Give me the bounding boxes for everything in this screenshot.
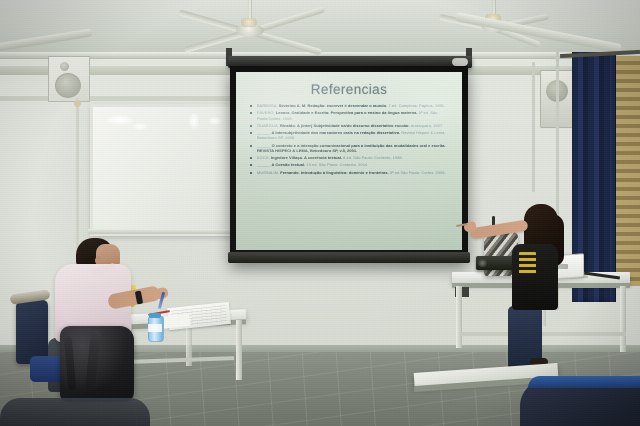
reference-author: KOCH, [257,155,270,160]
desk-leg [236,320,242,380]
reference-entry: ______ A intersubjetividade dos marcador… [248,130,450,140]
whiteboard-marker-tray [88,229,238,234]
reference-source: 7.ed. Campinas: Papirus, 1991. [387,103,445,108]
window-blinds[interactable] [612,56,640,286]
reference-entry: KOCH, Ingedore Villaça. A coerência text… [248,155,450,160]
projection-screen-surface: Referencias BARBOSA, Severino A. M. Reda… [236,72,462,250]
reference-title: Severino A. M. Redação: escrever é desve… [278,103,388,108]
speaker-tweeter [60,62,69,71]
classroom-photo: Referencias BARBOSA, Severino A. M. Reda… [0,0,640,426]
reference-author: ______ [257,162,270,167]
reference-title: Fernando. Introdução à linguística: domí… [279,170,389,175]
reference-entry: BARBOSA, Severino A. M. Redação: escreve… [248,103,450,108]
reference-title: A Coesão textual. [270,162,305,167]
office-chair-backrest[interactable] [16,300,48,364]
reference-source: Araraquara, 1997. [410,123,444,128]
projection-screen-weight-bar [228,252,470,263]
reference-source: 19.ed. São Paulo: Contexto, 2004. [305,162,368,167]
presenter-shirt-graphic [519,252,536,276]
table-leg [620,286,626,352]
reference-source: 8.ed. São Paulo: Contexto, 1998. [342,155,403,160]
slide-title: Referencias [244,82,454,97]
foreground-shadow-object [0,398,150,426]
reference-list: BARBOSA, Severino A. M. Redação: escreve… [244,103,454,175]
fan-motor-cap [241,18,257,27]
reference-entry: MUSSALIM, Fernando. Introdução à linguís… [248,170,450,175]
reference-title: Rinaldo. A (inter) Subjetividade na/do d… [279,123,410,128]
projected-slide: Referencias BARBOSA, Severino A. M. Reda… [236,72,462,250]
projector-lens [478,259,487,267]
reference-author: MUSSALIM, [257,170,279,175]
reference-entry: GUARGLIA, Rinaldo. A (inter) Subjetivida… [248,123,450,128]
door-frame-edge [76,98,79,248]
reference-author: BARBOSA, [257,103,278,108]
whiteboard-glare [209,117,221,125]
reference-entry: ______ O contexto e a interação comunica… [248,143,450,153]
whiteboard-glare [189,113,199,129]
whiteboard-glare [107,115,133,125]
whiteboard[interactable] [90,104,242,236]
reference-entry: FÁVERO, Leonor. Oralidade e Escrita: Per… [248,110,450,120]
screen-pull-knob[interactable] [452,58,468,66]
wall-hook [74,100,81,107]
reference-title: Leonor. Oralidade e Escrita: Perspectiva… [275,110,418,115]
wall-trim-secondary [0,96,232,101]
bottle-cap [149,313,161,318]
table-leg [456,286,462,348]
ac-conduit [532,62,535,192]
foreground-chair-rim [528,376,640,388]
reference-author: GUARGLIA, [257,123,279,128]
table-cross-rail [460,332,626,336]
reference-title: Ingedore Villaça. A coerência textual. [270,155,342,160]
bottle-label [148,324,162,332]
reference-source: 5ª ed.São Paulo: Cortez, 2005. [389,170,446,175]
reference-title: O contexto e a interação comunicacional … [257,143,446,153]
speaker-woofer [55,73,81,98]
whiteboard-glare [133,123,147,130]
reference-entry: ______ A Coesão textual. 19.ed. São Paul… [248,162,450,167]
